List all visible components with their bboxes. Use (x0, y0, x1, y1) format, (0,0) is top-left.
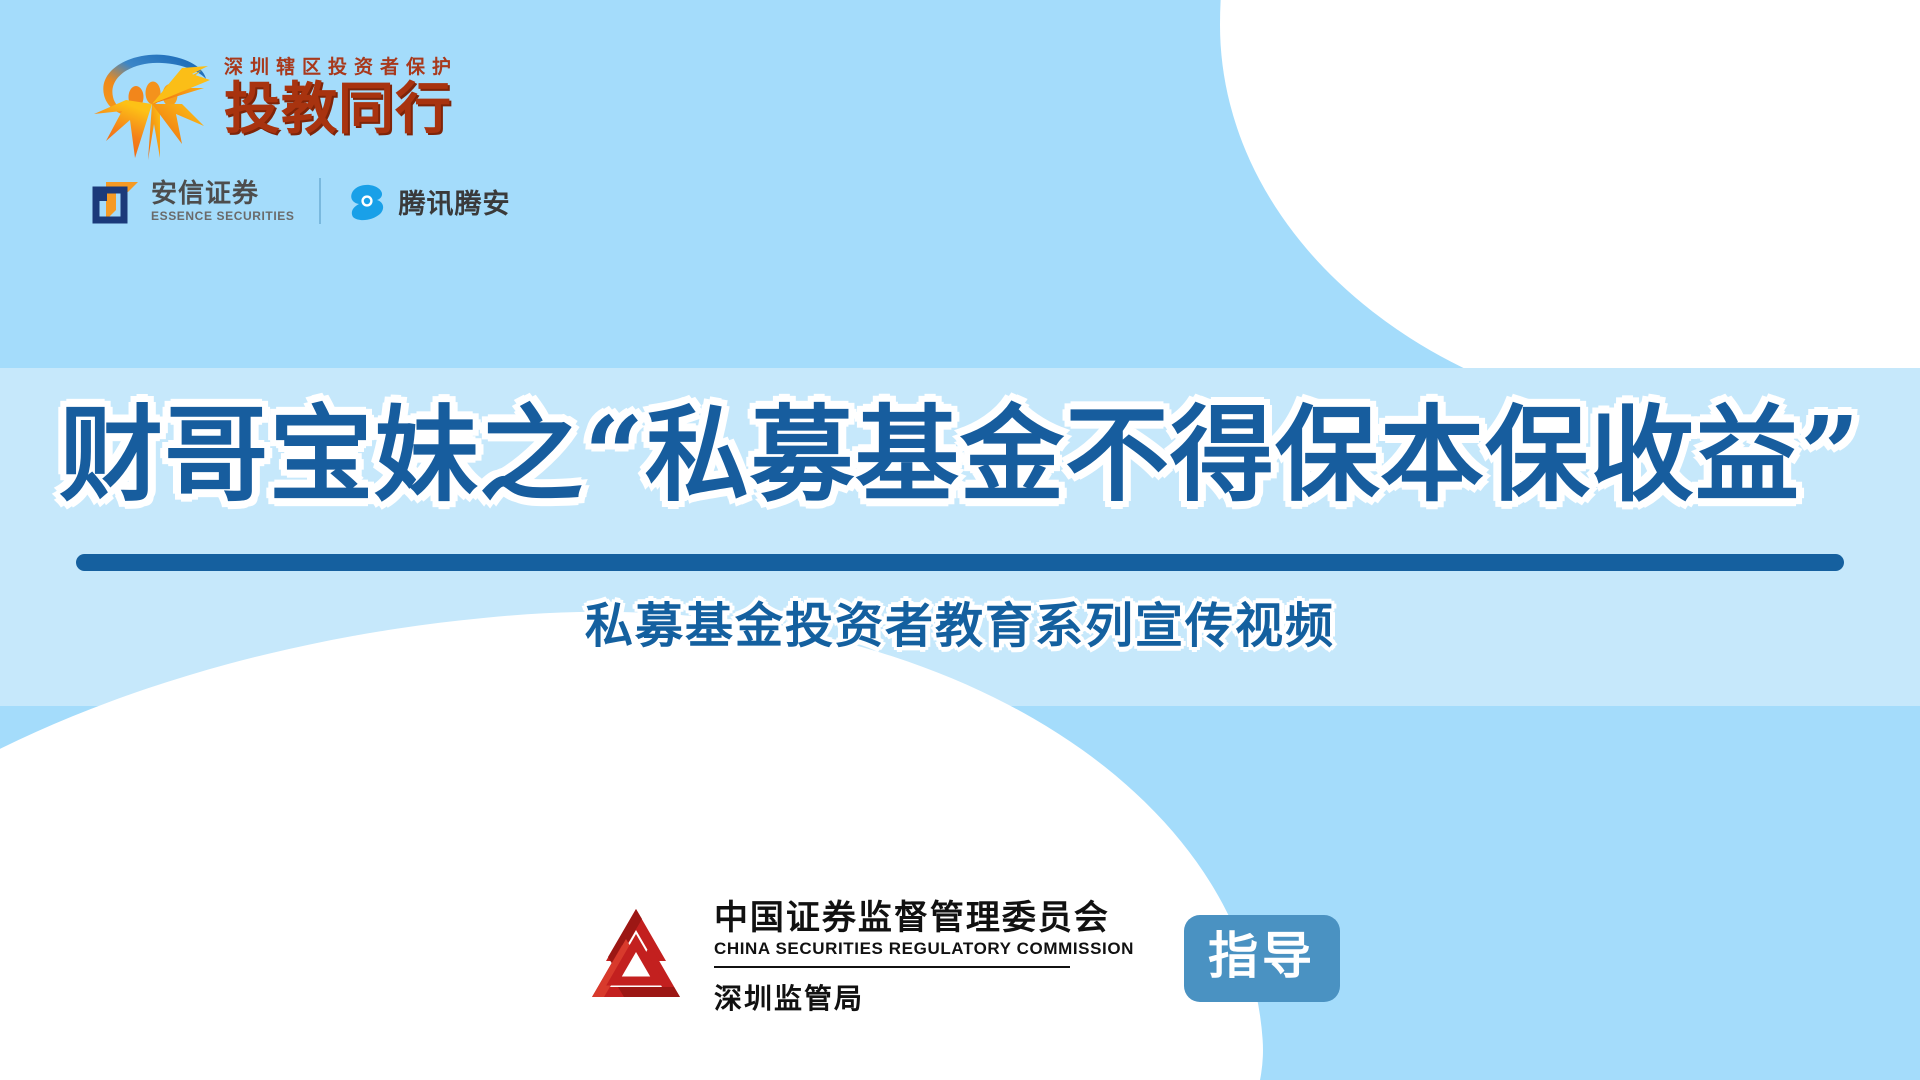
title-underline-bar (76, 554, 1844, 571)
csrc-bureau: 深圳监管局 (714, 977, 1134, 1017)
brand-tagline: 深圳辖区投资者保护 (224, 52, 458, 79)
partner-row: 安信证券 ESSENCE SECURITIES 腾讯腾安 (92, 178, 516, 224)
partner-tencent-tengan: 腾讯腾安 (345, 179, 511, 223)
essence-name-cn: 安信证券 (151, 181, 295, 207)
csrc-divider (714, 966, 1070, 968)
csrc-group: 中国证券监督管理委员会 CHINA SECURITIES REGULATORY … (580, 900, 1134, 1017)
csrc-name-cn: 中国证券监督管理委员会 (714, 900, 1134, 937)
essence-securities-label: 安信证券 ESSENCE SECURITIES (151, 181, 295, 222)
essence-name-en: ESSENCE SECURITIES (151, 210, 295, 222)
brand-primary-row: 深圳辖区投资者保护 投教同行 (86, 38, 516, 166)
poster-canvas: 深圳辖区投资者保护 投教同行 安信证券 ESSENCE SECURITIES (0, 0, 1920, 1080)
page-subtitle: 私募基金投资者教育系列宣传视频 (585, 586, 1335, 656)
partner-divider (319, 178, 321, 224)
csrc-triangle-logo-icon (580, 903, 692, 1015)
starburst-arc-logo-icon (86, 38, 218, 166)
subtitle-container: 私募基金投资者教育系列宣传视频 (0, 586, 1920, 656)
essence-securities-logo-icon (92, 178, 142, 224)
headline-container: 财哥宝妹之“私募基金不得保本保收益” (0, 400, 1920, 510)
brand-block: 深圳辖区投资者保护 投教同行 安信证券 ESSENCE SECURITIES (86, 38, 516, 224)
page-title: 财哥宝妹之“私募基金不得保本保收益” (59, 400, 1861, 510)
partner-essence-securities: 安信证券 ESSENCE SECURITIES (92, 178, 295, 224)
footer-block: 中国证券监督管理委员会 CHINA SECURITIES REGULATORY … (0, 900, 1920, 1017)
tencent-tengan-logo-icon (345, 179, 389, 223)
status-badge: 指导 (1184, 915, 1340, 1002)
tencent-name-cn: 腾讯腾安 (399, 182, 511, 221)
brand-name: 投教同行 (224, 81, 458, 140)
csrc-text-block: 中国证券监督管理委员会 CHINA SECURITIES REGULATORY … (714, 900, 1134, 1017)
csrc-name-en: CHINA SECURITIES REGULATORY COMMISSION (714, 939, 1134, 959)
brand-wordmark: 深圳辖区投资者保护 投教同行 (224, 38, 458, 140)
